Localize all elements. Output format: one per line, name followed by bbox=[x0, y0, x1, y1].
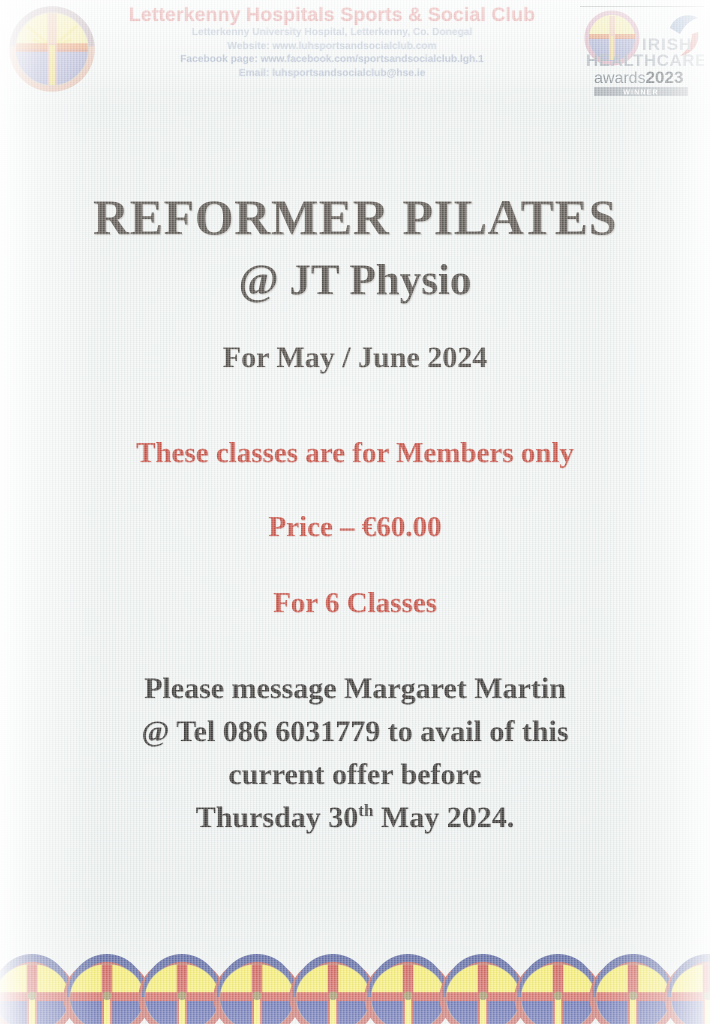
club-website: Website: www.luhsportsandsocialclub.com bbox=[104, 40, 560, 54]
club-name: Letterkenny Hospitals Sports & Social Cl… bbox=[104, 4, 560, 26]
club-crest-icon bbox=[4, 0, 100, 98]
deadline-ordinal-suffix: th bbox=[358, 801, 373, 820]
deadline-prefix: Thursday 30 bbox=[196, 801, 359, 834]
club-crest-icon bbox=[664, 950, 710, 1024]
members-only-notice: These classes are for Members only bbox=[0, 437, 710, 470]
irish-healthcare-awards-badge-icon: IRISH HEALTHCARE awards2023 WINNER bbox=[582, 4, 704, 98]
header-divider-rule bbox=[580, 6, 704, 7]
club-email: Email: luhsportsandsocialclub@hse.ie bbox=[104, 67, 560, 81]
contact-block: Please message Margaret Martin @ Tel 086… bbox=[0, 667, 710, 839]
club-facebook: Facebook page: www.facebook.com/sportsan… bbox=[104, 53, 560, 67]
poster-header: Letterkenny Hospitals Sports & Social Cl… bbox=[0, 0, 710, 104]
page-subtitle: @ JT Physio bbox=[0, 257, 710, 305]
svg-text:WINNER: WINNER bbox=[623, 90, 659, 97]
footer-logo-strip bbox=[0, 928, 710, 1024]
poster-page: Letterkenny Hospitals Sports & Social Cl… bbox=[0, 0, 710, 1024]
contact-line-3: current offer before bbox=[0, 753, 710, 796]
contact-line-4: Thursday 30th May 2024. bbox=[0, 796, 710, 839]
poster-content: REFORMER PILATES @ JT Physio For May / J… bbox=[0, 104, 710, 839]
club-address: Letterkenny University Hospital, Letterk… bbox=[104, 26, 560, 40]
club-crest-icon bbox=[213, 950, 301, 1024]
date-line: For May / June 2024 bbox=[0, 341, 710, 375]
class-count-line: For 6 Classes bbox=[0, 587, 710, 620]
deadline-suffix: May 2024. bbox=[373, 801, 514, 834]
price-line: Price – €60.00 bbox=[0, 511, 710, 544]
contact-line-1: Please message Margaret Martin bbox=[0, 667, 710, 710]
contact-line-2: @ Tel 086 6031779 to avail of this bbox=[0, 710, 710, 753]
header-text-block: Letterkenny Hospitals Sports & Social Cl… bbox=[104, 4, 560, 80]
page-title: REFORMER PILATES bbox=[0, 189, 710, 245]
svg-text:awards2023: awards2023 bbox=[594, 68, 683, 87]
